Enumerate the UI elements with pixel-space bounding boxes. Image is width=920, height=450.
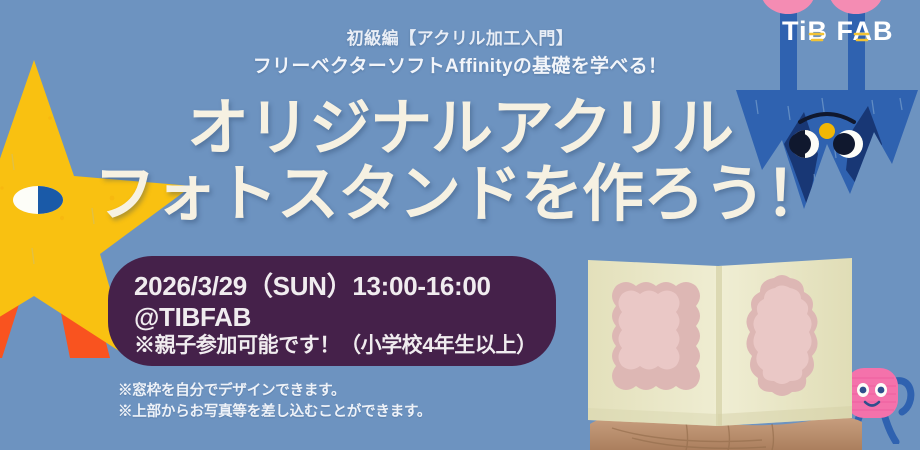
acrylic-photo-stand [566,248,866,450]
svg-text:TiB FAB: TiB FAB [782,16,894,46]
footnotes: ※窓枠を自分でデザインできます。 ※上部からお写真等を差し込むことができます。 [118,381,431,423]
title-line-1: オリジナルアクリル [0,96,920,162]
footnote-2: ※上部からお写真等を差し込むことができます。 [118,402,431,423]
tib-fab-logo: TiB FAB [782,14,902,56]
page-title: オリジナルアクリル フォトスタンドを作ろう！ [0,96,920,227]
footnote-1: ※窓枠を自分でデザインできます。 [118,381,431,402]
title-line-2: フォトスタンドを作ろう！ [0,162,920,228]
event-location: @TIBFAB [134,303,556,332]
event-info-badge: 2026/3/29（SUN）13:00-16:00 @TIBFAB ※親子参加可… [108,256,556,366]
event-datetime: 2026/3/29（SUN）13:00-16:00 [134,270,556,303]
kicker-text: フリーベクターソフトAffinityの基礎を学べる！ [0,52,920,82]
event-eligibility-note: ※親子参加可能です！（小学校4年生以上） [134,332,556,359]
promotional-banner: TiB FAB 初級編【アクリル加工入門】 フリーベクターソフトAffinity… [0,0,920,450]
